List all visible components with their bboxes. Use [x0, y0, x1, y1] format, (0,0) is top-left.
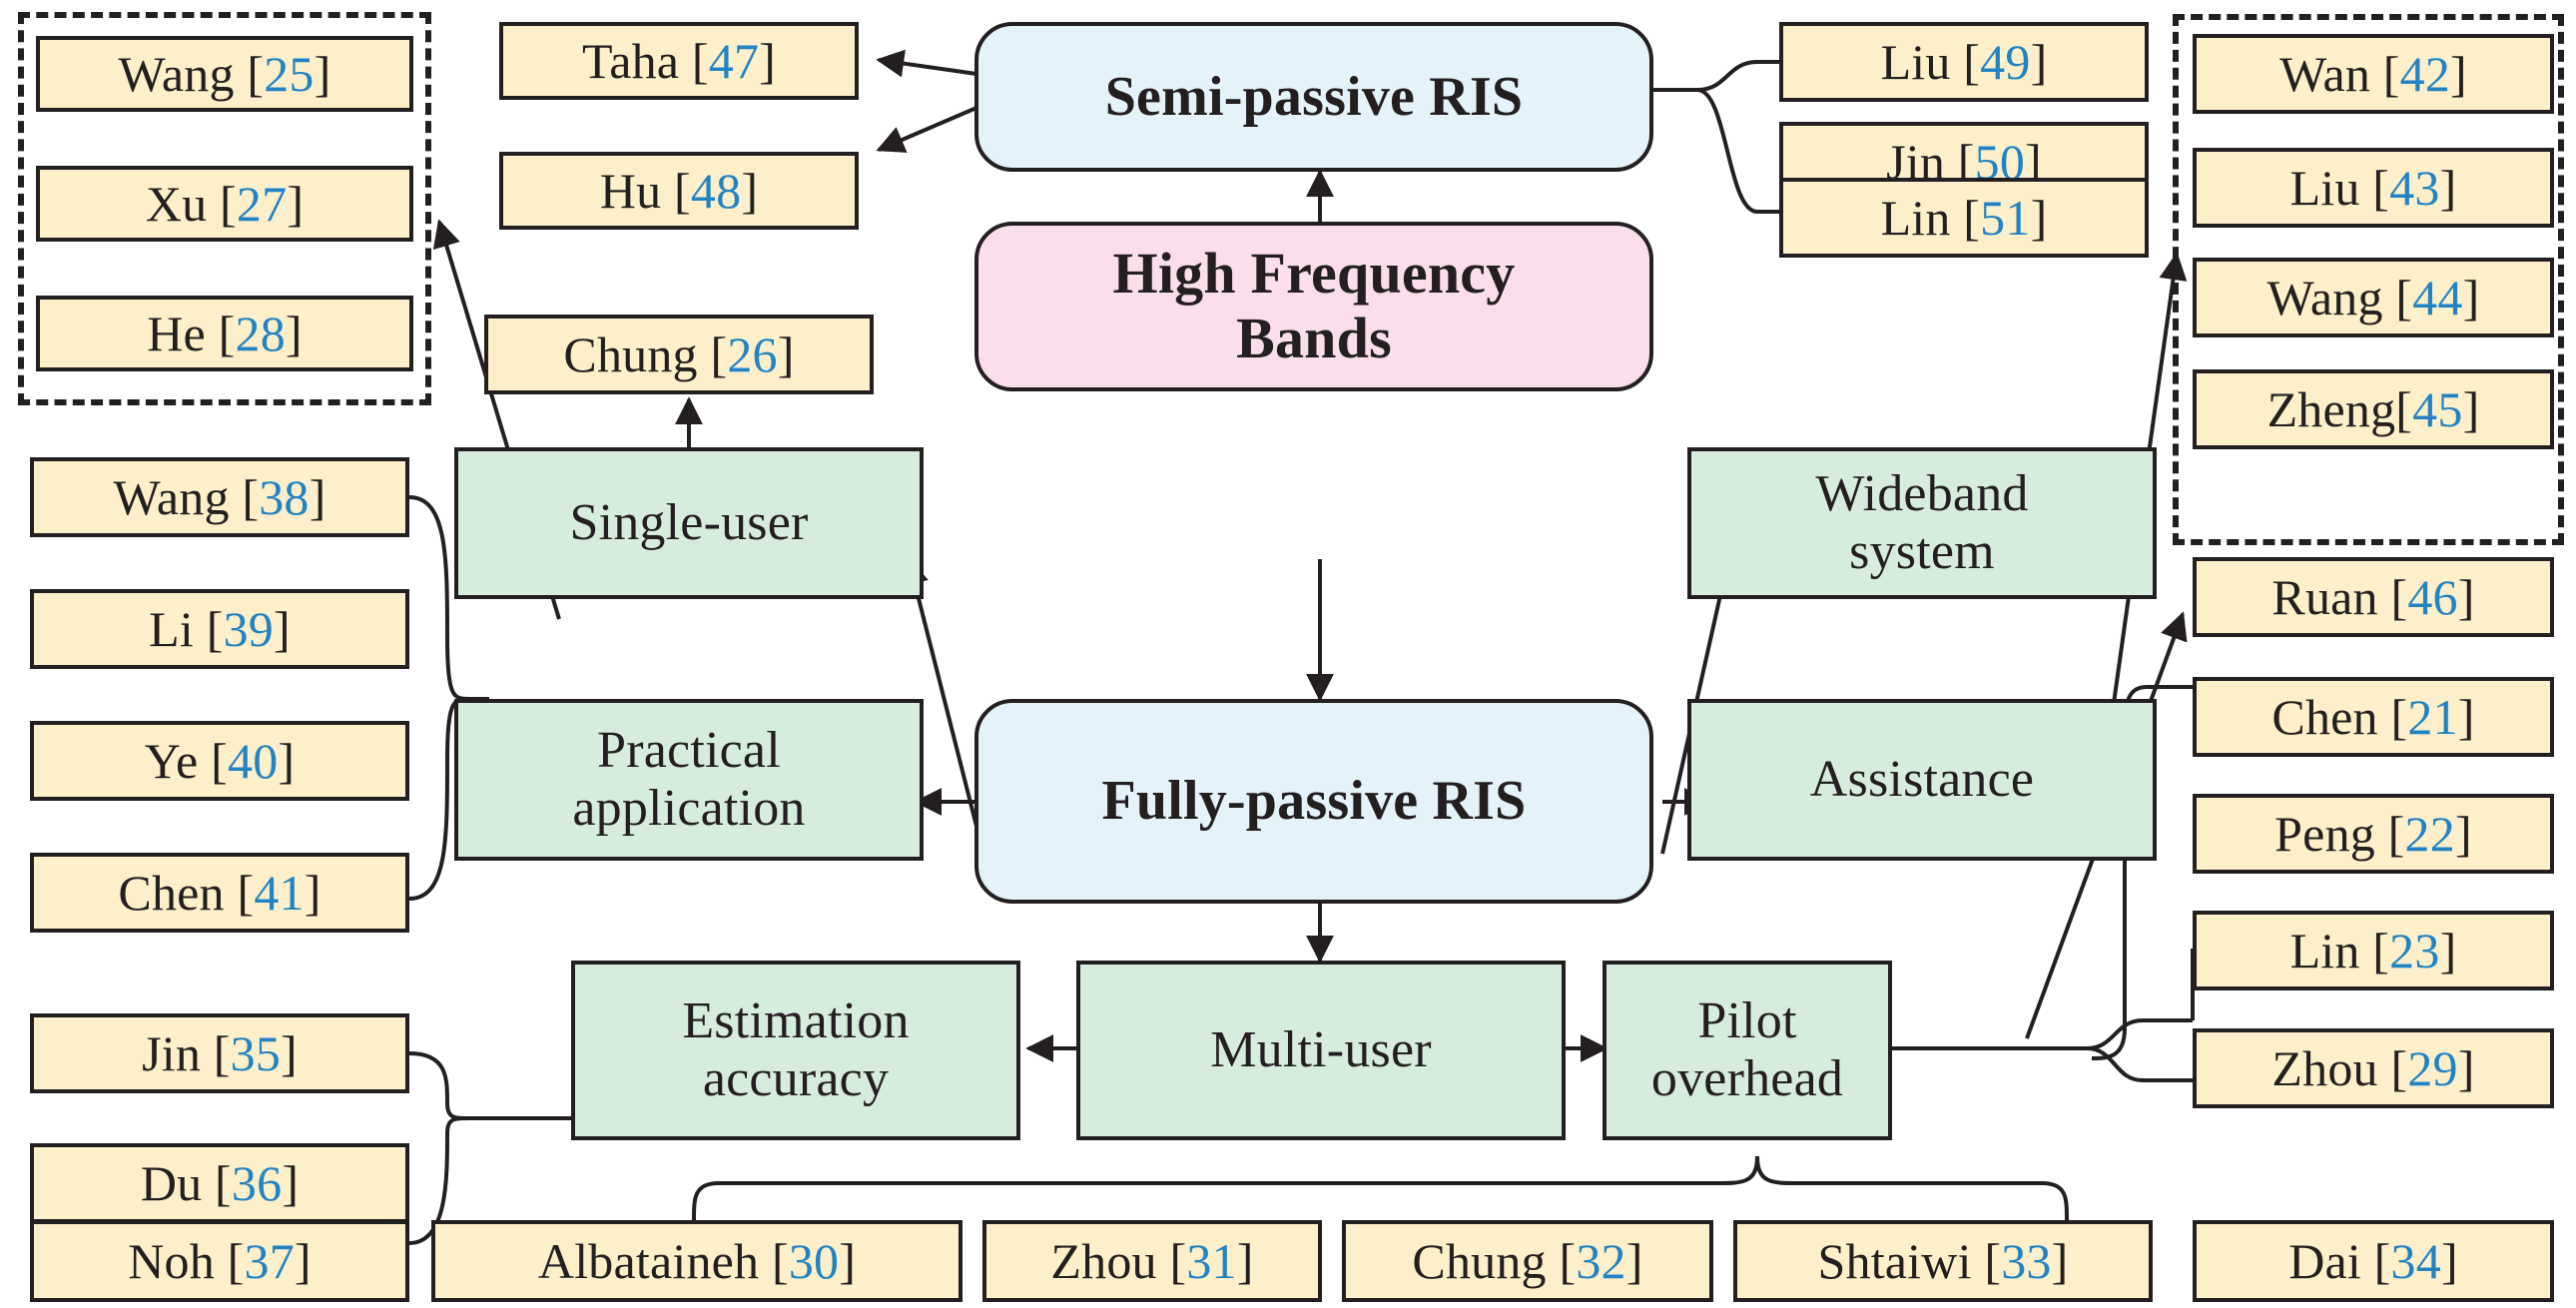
reference-number: 38	[259, 469, 309, 525]
reference-chip[interactable]: Chung [26]	[484, 315, 874, 394]
reference-number: 39	[224, 601, 274, 657]
reference-number: 47	[709, 33, 759, 89]
reference-chip[interactable]: He [28]	[36, 296, 413, 371]
reference-author: Du	[141, 1155, 203, 1211]
reference-number: 25	[264, 46, 314, 102]
reference-chip[interactable]: Zhou [31]	[982, 1220, 1322, 1302]
reference-author: Taha	[582, 33, 679, 89]
reference-chip[interactable]: Wan [42]	[2193, 34, 2554, 114]
reference-chip[interactable]: Zheng [45]	[2193, 369, 2554, 449]
reference-number: 34	[2391, 1233, 2441, 1289]
reference-author: Albataineh	[538, 1233, 759, 1289]
reference-author: Wang	[118, 46, 234, 102]
reference-author: Noh	[128, 1233, 215, 1289]
hub-high-frequency-bands[interactable]: High Frequency Bands	[974, 222, 1653, 391]
reference-number: 51	[1980, 190, 2030, 246]
reference-chip[interactable]: Zhou [29]	[2193, 1028, 2554, 1108]
reference-author: Hu	[600, 163, 662, 219]
reference-number: 44	[2412, 270, 2462, 326]
reference-author: Wan	[2279, 46, 2370, 102]
reference-chip[interactable]: Li [39]	[30, 589, 409, 669]
reference-number: 33	[2001, 1233, 2051, 1289]
reference-chip[interactable]: Dai [34]	[2193, 1220, 2554, 1302]
reference-number: 26	[727, 327, 777, 382]
reference-author: Xu	[146, 176, 208, 232]
reference-number: 32	[1576, 1233, 1625, 1289]
reference-chip[interactable]: Xu [27]	[36, 166, 413, 242]
reference-chip[interactable]: Shtaiwi [33]	[1733, 1220, 2153, 1302]
reference-author: Liu	[2290, 160, 2360, 216]
reference-number: 21	[2407, 689, 2457, 745]
reference-author: Peng	[2274, 806, 2375, 862]
reference-author: Liu	[1881, 34, 1951, 90]
reference-number: 27	[237, 176, 287, 232]
reference-chip[interactable]: Hu [48]	[499, 152, 859, 230]
reference-author: Chung	[563, 327, 697, 382]
reference-number: 46	[2407, 569, 2457, 625]
reference-number: 40	[228, 733, 278, 789]
reference-chip[interactable]: Noh [37]	[30, 1220, 409, 1302]
reference-author: Wang	[2266, 270, 2382, 326]
hub-semi-passive-ris[interactable]: Semi-passive RIS	[974, 22, 1653, 172]
reference-number: 30	[789, 1233, 839, 1289]
reference-author: Zhou	[1050, 1233, 1156, 1289]
reference-number: 31	[1186, 1233, 1236, 1289]
reference-author: Dai	[2288, 1233, 2361, 1289]
hub-fully-passive-ris[interactable]: Fully-passive RIS	[974, 699, 1653, 904]
reference-chip[interactable]: Lin [51]	[1779, 178, 2149, 258]
reference-author: Chen	[2271, 689, 2377, 745]
reference-number: 41	[254, 865, 304, 921]
reference-number: 37	[245, 1233, 295, 1289]
reference-chip[interactable]: Taha [47]	[499, 22, 859, 100]
category-practical-application[interactable]: Practical application	[454, 699, 924, 861]
reference-author: Li	[149, 601, 194, 657]
reference-author: Lin	[2290, 923, 2360, 979]
reference-author: Zhou	[2271, 1040, 2377, 1096]
reference-author: Chung	[1412, 1233, 1546, 1289]
category-estimation-accuracy[interactable]: Estimation accuracy	[571, 961, 1020, 1140]
reference-author: Wang	[113, 469, 229, 525]
diagram-canvas: Semi-passive RIS High Frequency Bands Fu…	[0, 0, 2576, 1308]
reference-author: Chen	[118, 865, 224, 921]
category-multi-user[interactable]: Multi-user	[1076, 961, 1566, 1140]
reference-chip[interactable]: Ruan [46]	[2193, 557, 2554, 637]
reference-chip[interactable]: Jin [35]	[30, 1013, 409, 1093]
reference-number: 42	[2400, 46, 2450, 102]
reference-chip[interactable]: Lin [23]	[2193, 911, 2554, 990]
reference-number: 36	[232, 1155, 282, 1211]
reference-chip[interactable]: Liu [43]	[2193, 148, 2554, 228]
reference-author: Lin	[1881, 190, 1951, 246]
reference-number: 48	[691, 163, 741, 219]
reference-author: Ye	[145, 733, 199, 789]
reference-author: Zheng	[2267, 381, 2396, 437]
reference-number: 29	[2407, 1040, 2457, 1096]
reference-chip[interactable]: Wang [44]	[2193, 258, 2554, 337]
reference-number: 23	[2389, 923, 2439, 979]
reference-chip[interactable]: Chen [21]	[2193, 677, 2554, 757]
category-wideband-system[interactable]: Wideband system	[1687, 447, 2157, 599]
category-single-user[interactable]: Single-user	[454, 447, 924, 599]
reference-chip[interactable]: Wang [25]	[36, 36, 413, 112]
reference-author: Shtaiwi	[1817, 1233, 1971, 1289]
reference-chip[interactable]: Liu [49]	[1779, 22, 2149, 102]
reference-chip[interactable]: Chen [41]	[30, 853, 409, 933]
reference-number: 28	[236, 306, 286, 361]
reference-number: 45	[2412, 381, 2462, 437]
reference-chip[interactable]: Peng [22]	[2193, 794, 2554, 874]
reference-chip[interactable]: Wang [38]	[30, 457, 409, 537]
reference-chip[interactable]: Albataineh [30]	[431, 1220, 963, 1302]
category-assistance[interactable]: Assistance	[1687, 699, 2157, 861]
category-pilot-overhead[interactable]: Pilot overhead	[1603, 961, 1892, 1140]
reference-number: 43	[2389, 160, 2439, 216]
reference-author: He	[147, 306, 206, 361]
reference-chip[interactable]: Chung [32]	[1342, 1220, 1713, 1302]
reference-chip[interactable]: Du [36]	[30, 1143, 409, 1223]
reference-number: 49	[1980, 34, 2030, 90]
reference-chip[interactable]: Ye [40]	[30, 721, 409, 801]
reference-author: Jin	[142, 1025, 201, 1081]
reference-number: 35	[231, 1025, 281, 1081]
reference-number: 22	[2405, 806, 2455, 862]
reference-author: Ruan	[2271, 569, 2377, 625]
